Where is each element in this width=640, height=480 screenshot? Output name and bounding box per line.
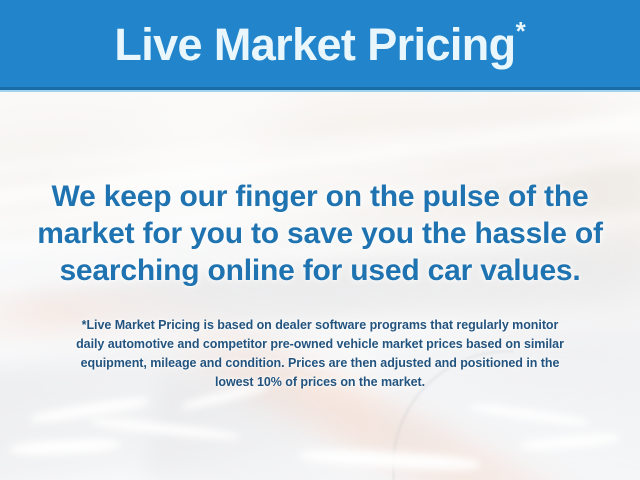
page-title-asterisk: * [516, 16, 526, 46]
headline-block: We keep our finger on the pulse of the m… [0, 178, 640, 289]
disclaimer-block: *Live Market Pricing is based on dealer … [0, 316, 640, 392]
disclaimer-line: *Live Market Pricing is based on dealer … [0, 316, 640, 335]
disclaimer-line: lowest 10% of prices on the market. [0, 373, 640, 392]
header-banner-underline-light [0, 90, 640, 92]
headline-line: market for you to save you the hassle of [0, 215, 640, 252]
disclaimer-line: equipment, mileage and condition. Prices… [0, 354, 640, 373]
page-title: Live Market Pricing* [114, 18, 525, 67]
header-banner: Live Market Pricing* [0, 0, 640, 87]
headline-line: We keep our finger on the pulse of the [0, 178, 640, 215]
live-market-pricing-banner-graphic: Live Market Pricing* We keep our finger … [0, 0, 640, 480]
page-title-text: Live Market Pricing [114, 19, 515, 70]
headline-line: searching online for used car values. [0, 252, 640, 289]
disclaimer-line: daily automotive and competitor pre-owne… [0, 335, 640, 354]
